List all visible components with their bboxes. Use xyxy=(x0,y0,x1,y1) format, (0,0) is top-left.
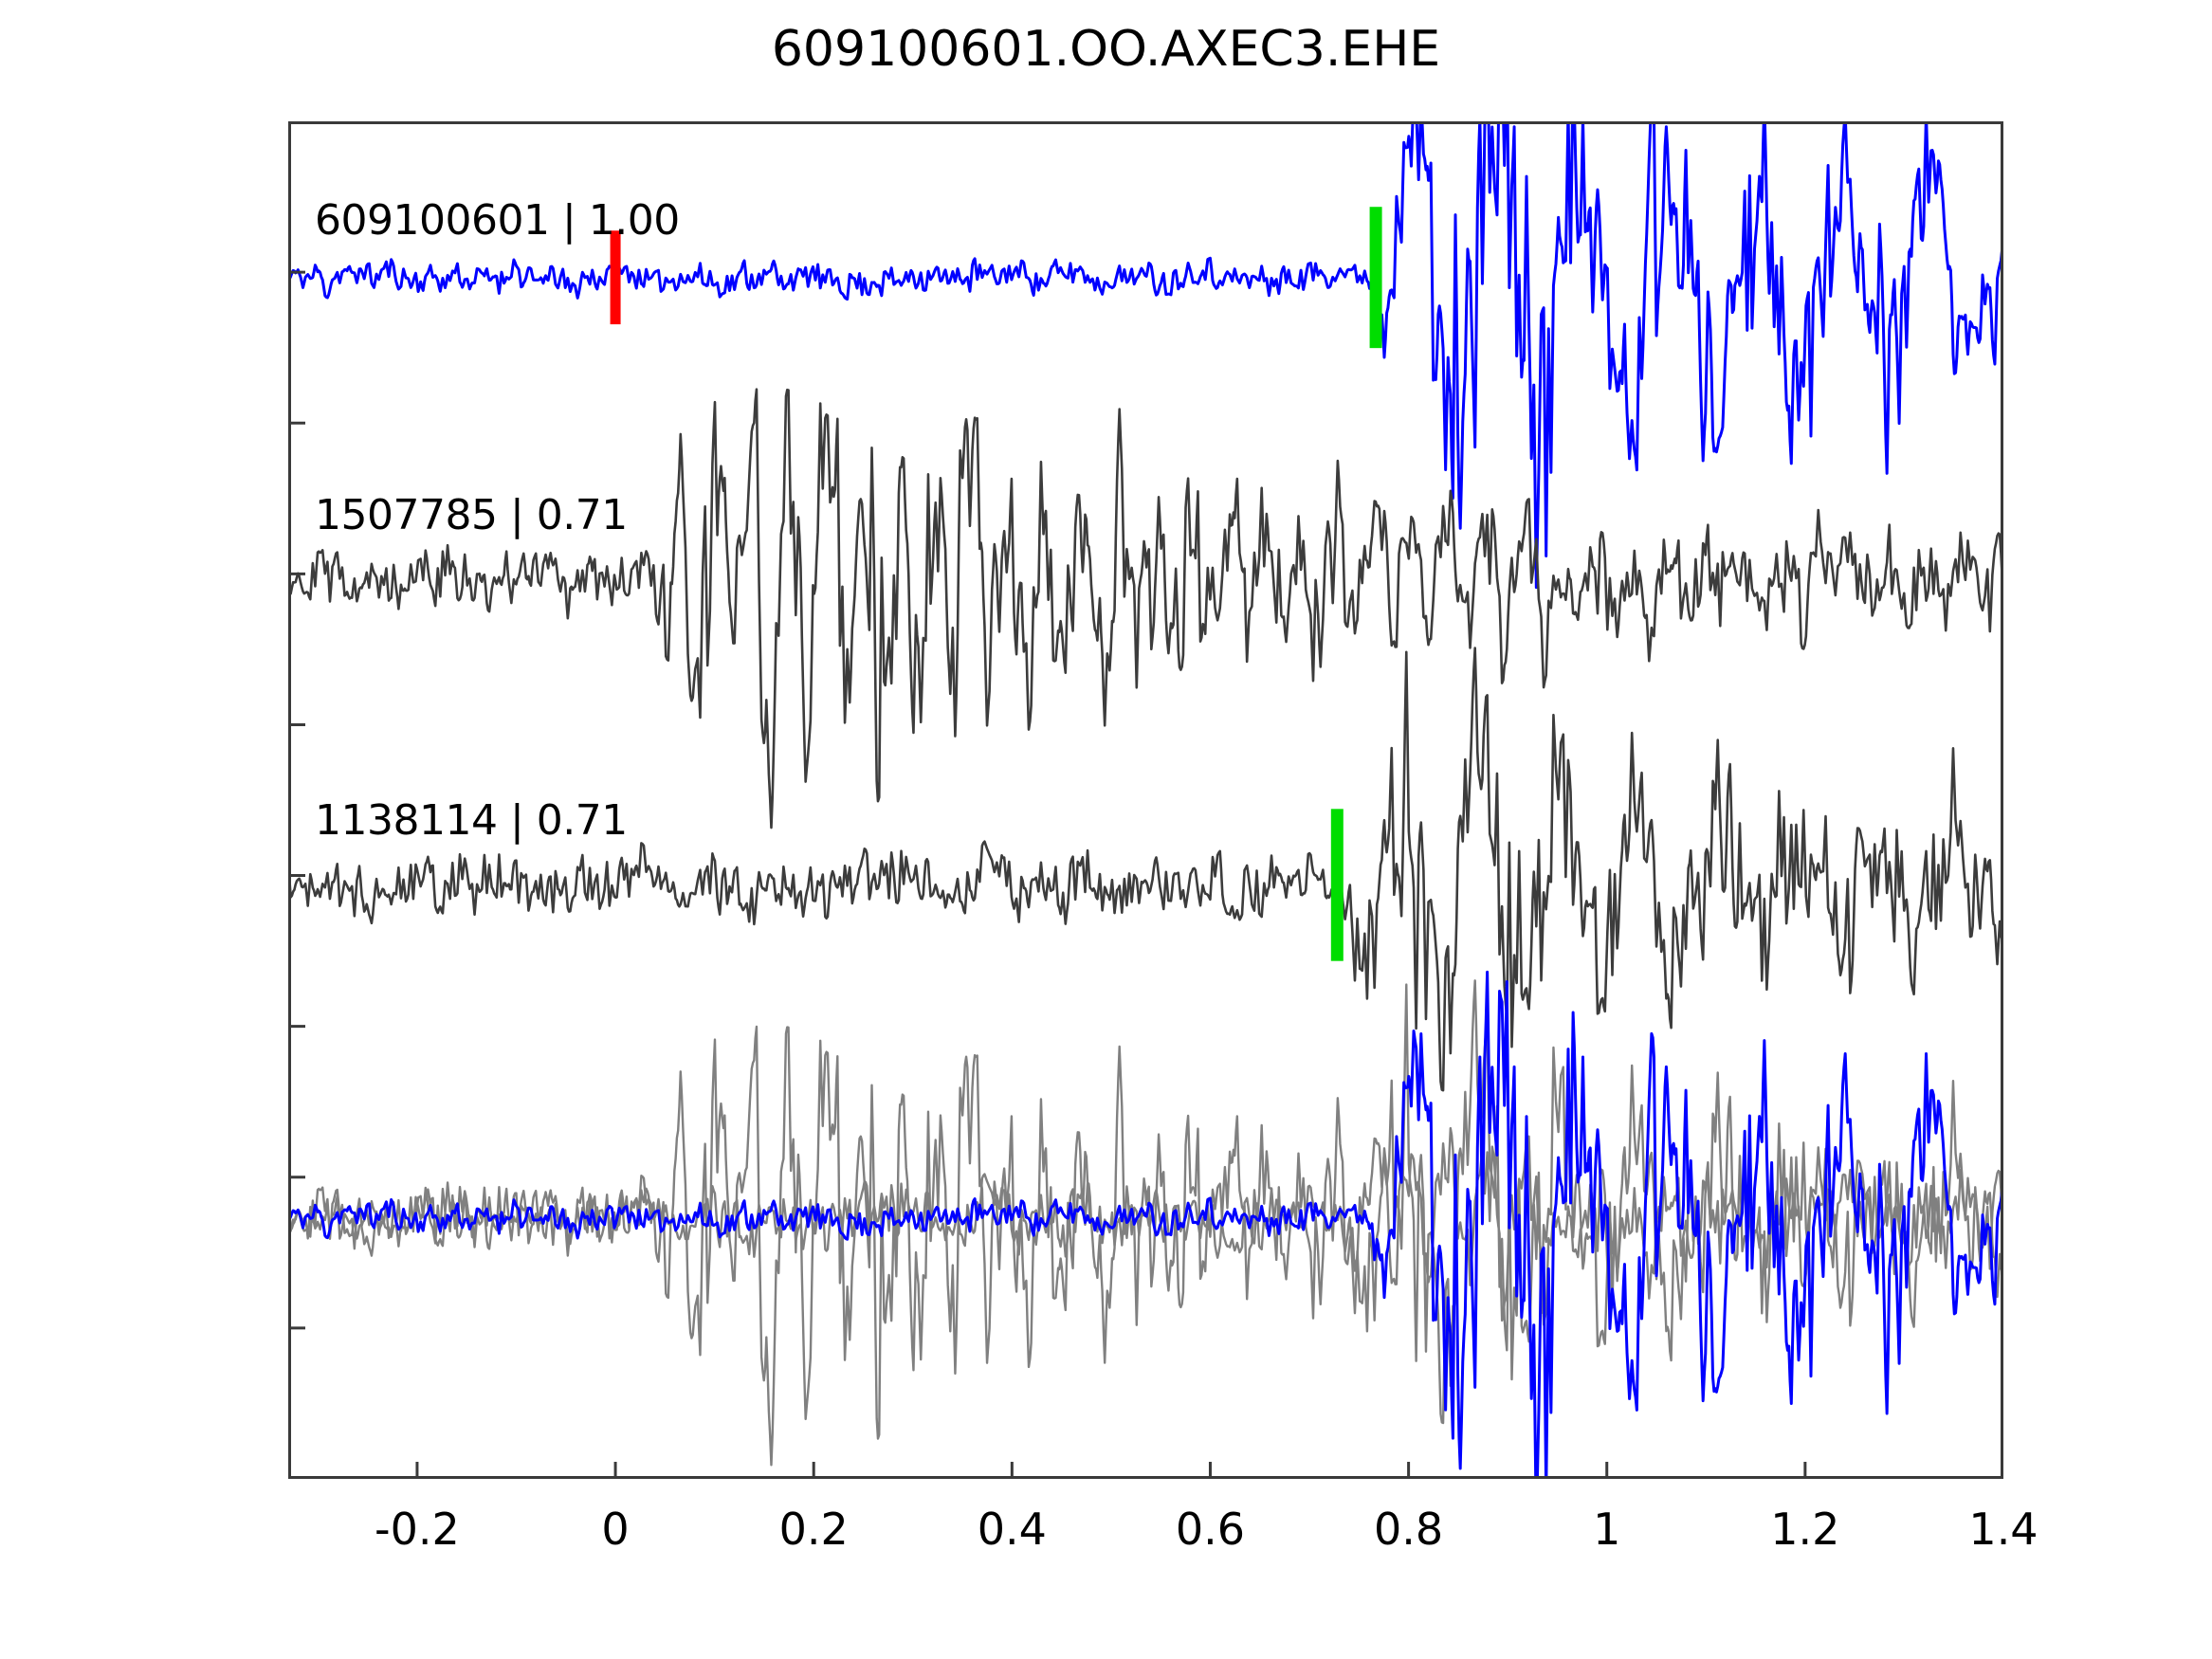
trace-label-609100601: 609100601 | 1.00 xyxy=(315,196,680,245)
x-axis-tick-label: 0.2 xyxy=(779,1504,849,1555)
x-axis-tick-label: -0.2 xyxy=(375,1504,460,1555)
trace-label-1507785: 1507785 | 0.71 xyxy=(315,491,628,539)
seismic-waveform-figure: 609100601.OO.AXEC3.EHE 609100601 | 1.00 … xyxy=(0,0,2212,1659)
plot-area: 609100601 | 1.00 1507785 | 0.71 1138114 … xyxy=(288,121,2003,1479)
x-axis-tick-label: 0.8 xyxy=(1374,1504,1443,1555)
x-axis-tick-label: 0 xyxy=(601,1504,629,1555)
x-axis-tick-label: 0.4 xyxy=(978,1504,1047,1555)
waveform-trace-1138114 xyxy=(288,648,2003,1091)
x-axis-tick-label: 0.6 xyxy=(1176,1504,1245,1555)
s-pick-green-row2 xyxy=(1331,809,1344,960)
s-pick-green-row0 xyxy=(1370,207,1382,348)
p-pick-red xyxy=(611,230,621,324)
x-axis-tick-label: 1.2 xyxy=(1770,1504,1839,1555)
overlay-trace xyxy=(288,972,2003,1479)
page-title: 609100601.OO.AXEC3.EHE xyxy=(0,21,2212,78)
trace-label-1138114: 1138114 | 0.71 xyxy=(315,796,628,845)
x-axis-tick-label: 1 xyxy=(1593,1504,1620,1555)
x-axis-tick-label: 1.4 xyxy=(1968,1504,2038,1555)
waveform-trace-1507785 xyxy=(288,390,2003,828)
